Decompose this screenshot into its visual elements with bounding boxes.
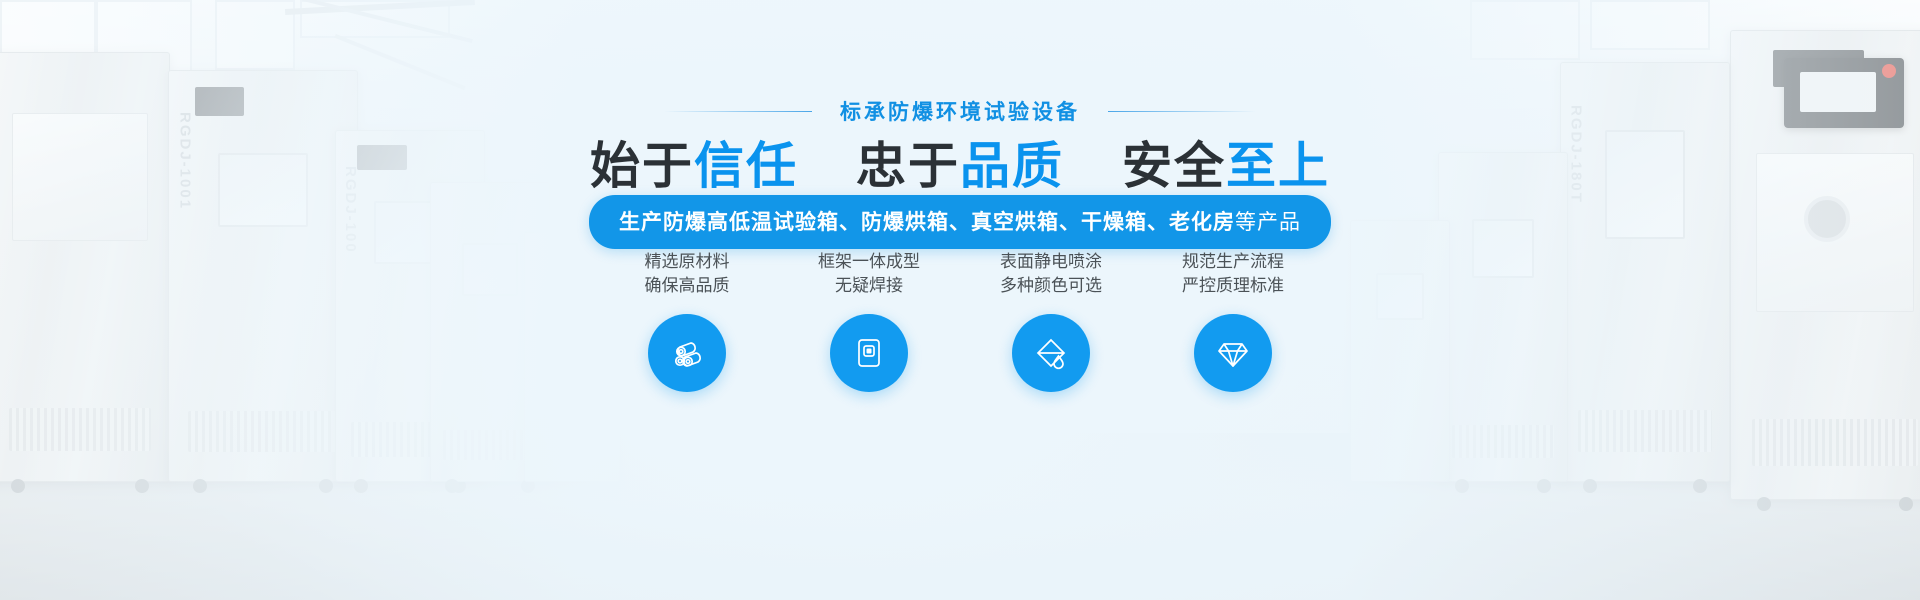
slogan-phrase-1: 始于信任 [590, 126, 798, 198]
promo-banner: RGDJ-1001 RGDJ-100 RGDJ-180T [0, 0, 1920, 600]
feature-line-1: 框架一体成型 [818, 250, 920, 274]
banner-content: 标承防爆环境试验设备 始于信任 忠于品质 安全至上 生产防爆高低温试验箱、防爆烘… [0, 0, 1920, 600]
product-list-thin: 等产品 [1235, 211, 1301, 234]
frame-square-icon [830, 314, 908, 392]
feature-line-1: 表面静电喷涂 [1000, 250, 1102, 274]
diamond-icon [1194, 314, 1272, 392]
rule-left [664, 111, 812, 112]
slogan-dark-2: 忠于 [856, 138, 960, 194]
feature-line-2: 确保高品质 [645, 274, 730, 298]
feature-line-2: 无疑焊接 [835, 274, 903, 298]
product-list-pill: 生产防爆高低温试验箱、防爆烘箱、真空烘箱、干燥箱、老化房等产品 [589, 195, 1331, 249]
slogan-dark-1: 始于 [590, 138, 694, 194]
product-list-bold: 生产防爆高低温试验箱、防爆烘箱、真空烘箱、干燥箱、老化房 [619, 211, 1235, 234]
feature-list: 精选原材料 确保高品质 框架一体成型 无疑焊接 [630, 250, 1290, 392]
slogan-phrase-2: 忠于品质 [856, 126, 1064, 198]
feature-line-1: 精选原材料 [645, 250, 730, 274]
paint-drop-icon [1012, 314, 1090, 392]
feature-line-2: 严控质理标准 [1182, 274, 1284, 298]
feature-item[interactable]: 规范生产流程 严控质理标准 [1176, 250, 1290, 392]
slogan-dark-3: 安全 [1122, 138, 1226, 194]
feature-item[interactable]: 精选原材料 确保高品质 [630, 250, 744, 392]
eyebrow-row: 标承防爆环境试验设备 [0, 96, 1920, 126]
slogan-row: 始于信任 忠于品质 安全至上 [0, 126, 1920, 198]
slogan-blue-1: 信任 [694, 138, 798, 194]
feature-line-1: 规范生产流程 [1182, 250, 1284, 274]
slogan-phrase-3: 安全至上 [1122, 126, 1330, 198]
slogan-blue-3: 至上 [1226, 138, 1330, 194]
eyebrow-text: 标承防爆环境试验设备 [840, 96, 1080, 126]
feature-item[interactable]: 表面静电喷涂 多种颜色可选 [994, 250, 1108, 392]
rule-right [1108, 111, 1256, 112]
feature-item[interactable]: 框架一体成型 无疑焊接 [812, 250, 926, 392]
material-rolls-icon [648, 314, 726, 392]
feature-line-2: 多种颜色可选 [1000, 274, 1102, 298]
slogan-blue-2: 品质 [960, 138, 1064, 194]
